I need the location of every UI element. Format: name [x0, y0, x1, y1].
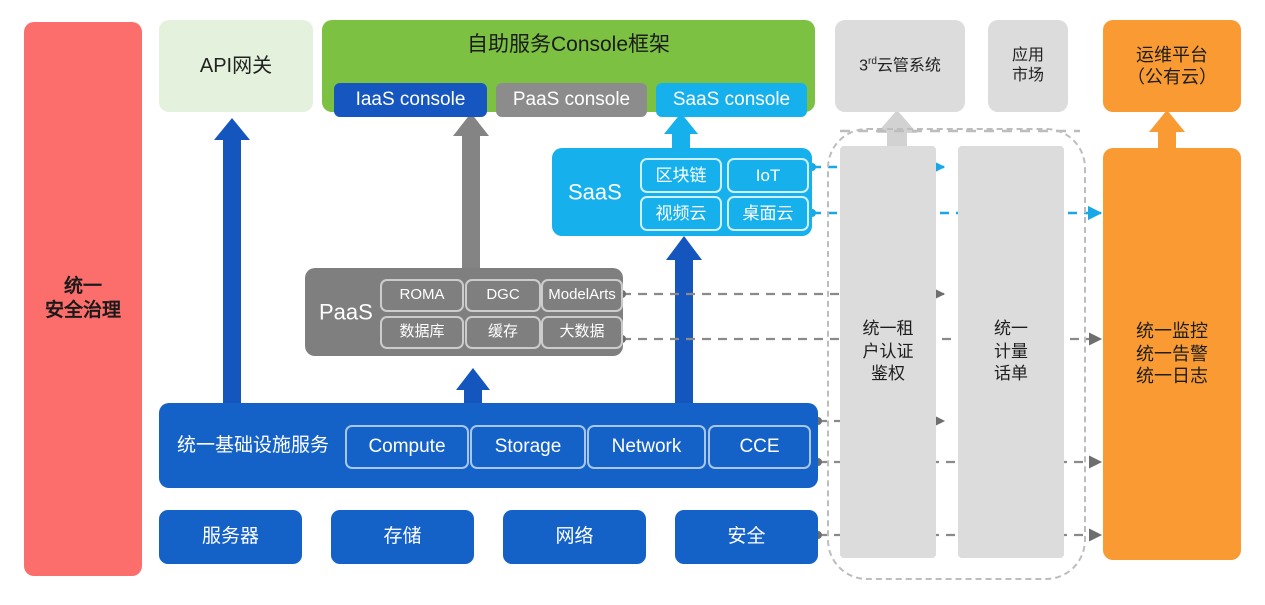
unified-auth-column[interactable]: 统一租 户认证 鉴权 — [840, 146, 936, 558]
console-chip-saas-label: SaaS console — [673, 88, 790, 112]
paas-chip-dgc[interactable]: DGC — [465, 279, 541, 312]
paas-chip-modelarts[interactable]: ModelArts — [541, 279, 623, 312]
third-party-cloud-label: 3rd云管系统 — [859, 56, 941, 76]
arrow-paas-to-console — [453, 113, 489, 268]
paas-chip-roma[interactable]: ROMA — [380, 279, 464, 312]
security-pillar-line2: 安全治理 — [45, 299, 121, 323]
arrow-iaas-to-saas — [666, 236, 702, 405]
ops-panel[interactable]: 统一监控 统一告警 统一日志 — [1103, 148, 1241, 560]
iaas-chip-storage-label: Storage — [495, 435, 562, 459]
third-party-prefix: 3 — [859, 57, 868, 74]
console-chip-iaas-label: IaaS console — [356, 88, 466, 112]
arrow-saas-to-console — [664, 113, 698, 150]
saas-chip-iot[interactable]: IoT — [727, 158, 809, 193]
unified-auth-line2: 户认证 — [863, 341, 914, 364]
app-market-line1: 应用 — [1012, 46, 1044, 66]
iaas-chip-network-label: Network — [612, 435, 682, 459]
resource-box-network-label: 网络 — [555, 525, 593, 549]
paas-chip-database[interactable]: 数据库 — [380, 316, 464, 349]
saas-chip-desktop-cloud-label: 桌面云 — [743, 203, 794, 224]
console-chip-iaas[interactable]: IaaS console — [334, 83, 487, 117]
unified-metering-column[interactable]: 统一 计量 话单 — [958, 146, 1064, 558]
console-chip-paas[interactable]: PaaS console — [496, 83, 647, 117]
saas-chip-desktop-cloud[interactable]: 桌面云 — [727, 196, 809, 231]
unified-auth-line1: 统一租 — [863, 318, 914, 341]
third-party-sup: rd — [868, 56, 877, 67]
arrow-iaas-to-apigw — [214, 118, 250, 405]
security-pillar[interactable]: 统一 安全治理 — [24, 22, 142, 576]
arrow-to-ops-platform — [1149, 110, 1185, 150]
resource-box-network[interactable]: 网络 — [503, 510, 646, 564]
iaas-label: 统一基础设施服务 — [177, 434, 329, 458]
iaas-layer[interactable]: 统一基础设施服务 Compute Storage Network CCE — [159, 403, 818, 488]
saas-layer[interactable]: SaaS 区块链 IoT 视频云 桌面云 — [552, 148, 812, 236]
paas-chip-bigdata-label: 大数据 — [559, 323, 604, 342]
unified-auth-line3: 鉴权 — [863, 363, 914, 386]
paas-label: PaaS — [319, 298, 373, 326]
iaas-chip-compute[interactable]: Compute — [345, 425, 469, 469]
console-chip-paas-label: PaaS console — [513, 88, 630, 112]
paas-chip-bigdata[interactable]: 大数据 — [541, 316, 623, 349]
security-pillar-line1: 统一 — [45, 275, 121, 299]
architecture-diagram: 统一 安全治理 API网关 自助服务Console框架 IaaS console… — [0, 0, 1265, 605]
iaas-chip-network[interactable]: Network — [587, 425, 706, 469]
ops-panel-line1: 统一监控 — [1136, 320, 1208, 343]
saas-chip-blockchain-label: 区块链 — [656, 165, 707, 186]
unified-metering-line3: 话单 — [994, 363, 1028, 386]
paas-chip-cache-label: 缓存 — [488, 323, 518, 342]
saas-chip-video-cloud[interactable]: 视频云 — [640, 196, 722, 231]
iaas-chip-storage[interactable]: Storage — [470, 425, 586, 469]
resource-box-security[interactable]: 安全 — [675, 510, 818, 564]
saas-chip-iot-label: IoT — [756, 165, 781, 186]
ops-panel-line3: 统一日志 — [1136, 365, 1208, 388]
ops-platform-top-line2: （公有云） — [1127, 66, 1217, 89]
resource-box-server-label: 服务器 — [202, 525, 259, 549]
api-gateway-box[interactable]: API网关 — [159, 20, 313, 112]
saas-label: SaaS — [568, 178, 622, 206]
resource-box-security-label: 安全 — [727, 525, 765, 549]
resource-box-storage-label: 存储 — [383, 525, 421, 549]
resource-box-server[interactable]: 服务器 — [159, 510, 302, 564]
console-chip-saas[interactable]: SaaS console — [656, 83, 807, 117]
ops-platform-top-box[interactable]: 运维平台 （公有云） — [1103, 20, 1241, 112]
arrow-iaas-to-paas — [456, 368, 490, 405]
iaas-chip-cce-label: CCE — [739, 435, 779, 459]
paas-layer[interactable]: PaaS ROMA DGC ModelArts 数据库 缓存 大数据 — [305, 268, 623, 356]
resource-box-storage[interactable]: 存储 — [331, 510, 474, 564]
console-frame[interactable]: 自助服务Console框架 IaaS console PaaS console … — [322, 20, 815, 112]
paas-chip-database-label: 数据库 — [399, 323, 444, 342]
app-market-box[interactable]: 应用 市场 — [988, 20, 1068, 112]
ops-platform-top-line1: 运维平台 — [1127, 44, 1217, 67]
app-market-line2: 市场 — [1012, 66, 1044, 86]
saas-chip-blockchain[interactable]: 区块链 — [640, 158, 722, 193]
paas-chip-roma-label: ROMA — [400, 286, 445, 305]
ops-panel-line2: 统一告警 — [1136, 343, 1208, 366]
paas-chip-modelarts-label: ModelArts — [548, 286, 616, 305]
api-gateway-label: API网关 — [200, 54, 272, 79]
console-title: 自助服务Console框架 — [322, 32, 815, 58]
saas-chip-video-cloud-label: 视频云 — [656, 203, 707, 224]
paas-chip-cache[interactable]: 缓存 — [465, 316, 541, 349]
third-party-suffix: 云管系统 — [877, 57, 941, 74]
unified-metering-line1: 统一 — [994, 318, 1028, 341]
third-party-cloud-box[interactable]: 3rd云管系统 — [835, 20, 965, 112]
paas-chip-dgc-label: DGC — [486, 286, 519, 305]
unified-metering-line2: 计量 — [994, 341, 1028, 364]
iaas-chip-cce[interactable]: CCE — [708, 425, 811, 469]
iaas-chip-compute-label: Compute — [368, 435, 445, 459]
